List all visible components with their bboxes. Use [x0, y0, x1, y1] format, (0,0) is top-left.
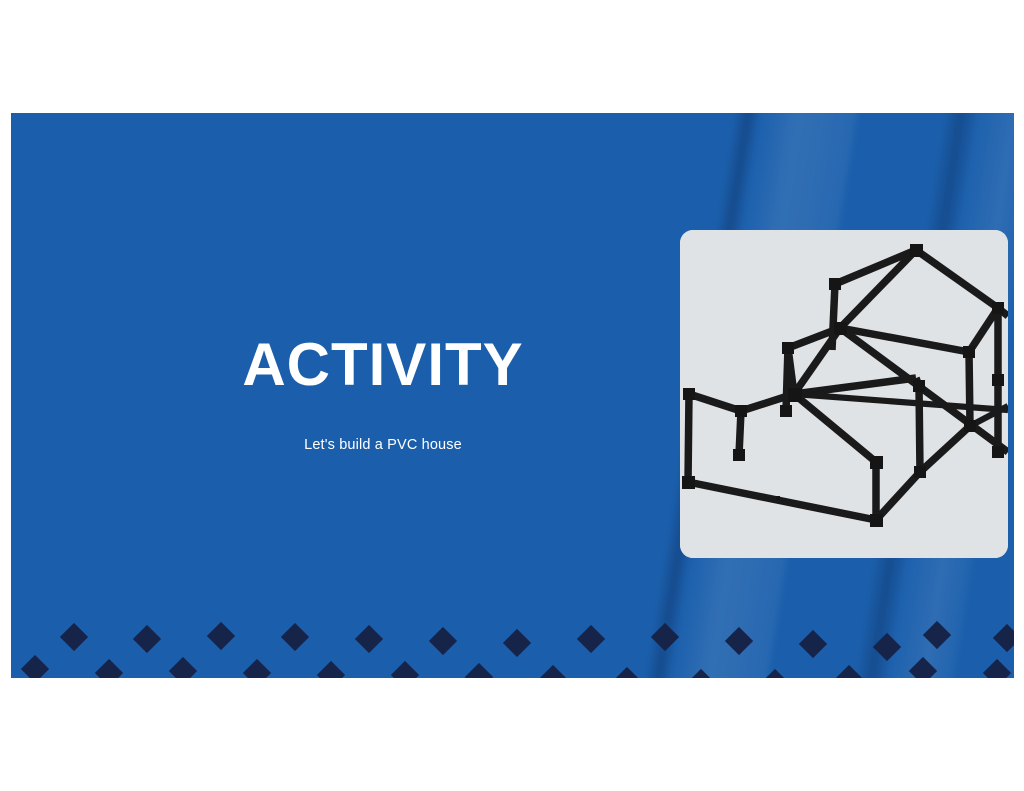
pvc-house-image-card: .pipe { stroke:#1a1a1a; stroke-width:7.5…	[680, 230, 1008, 558]
diamond-pattern-svg	[11, 593, 1014, 678]
pvc-pipe-house-frame-icon: .pipe { stroke:#1a1a1a; stroke-width:7.5…	[680, 230, 1008, 558]
presentation-slide: ACTIVITY Let's build a PVC house .pipe {…	[11, 113, 1014, 678]
page-subtitle: Let's build a PVC house	[11, 395, 755, 453]
headline-block: ACTIVITY Let's build a PVC house	[11, 335, 755, 453]
diamond-pattern-decoration	[11, 593, 1014, 678]
page-title: ACTIVITY	[11, 335, 755, 395]
slide-canvas: ACTIVITY Let's build a PVC house .pipe {…	[0, 0, 1024, 791]
